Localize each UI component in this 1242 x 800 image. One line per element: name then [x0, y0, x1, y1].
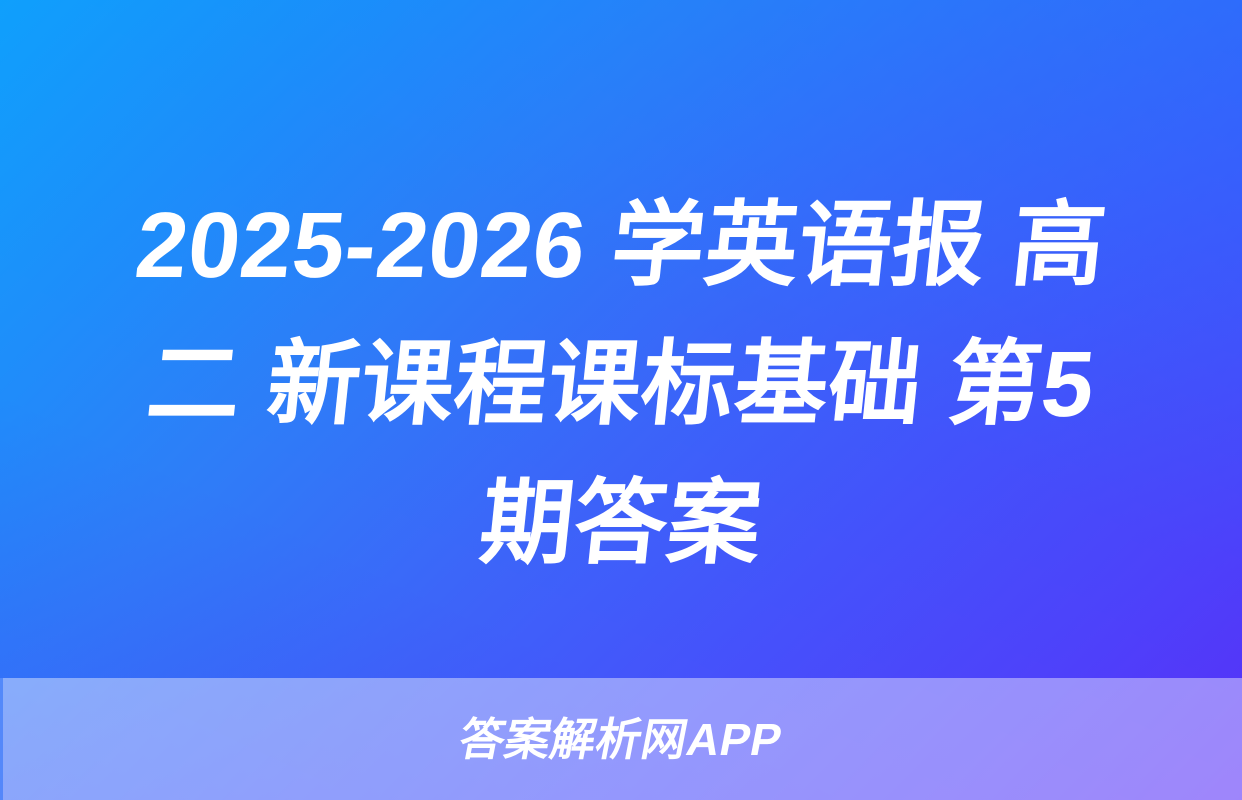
- watermark-band-left-edge: [0, 678, 3, 800]
- title-line-1: 2025-2026 学英语报 高: [41, 176, 1202, 315]
- answer-cover-poster: 2025-2026 学英语报 高 二 新课程课标基础 第5 期答案 答案解析网A…: [0, 0, 1242, 800]
- page-title: 2025-2026 学英语报 高 二 新课程课标基础 第5 期答案: [0, 176, 1242, 593]
- app-watermark-label: 答案解析网APP: [456, 717, 786, 762]
- title-line-2: 二 新课程课标基础 第5: [41, 315, 1202, 454]
- watermark-band: 答案解析网APP: [0, 678, 1242, 800]
- title-line-3: 期答案: [41, 454, 1202, 593]
